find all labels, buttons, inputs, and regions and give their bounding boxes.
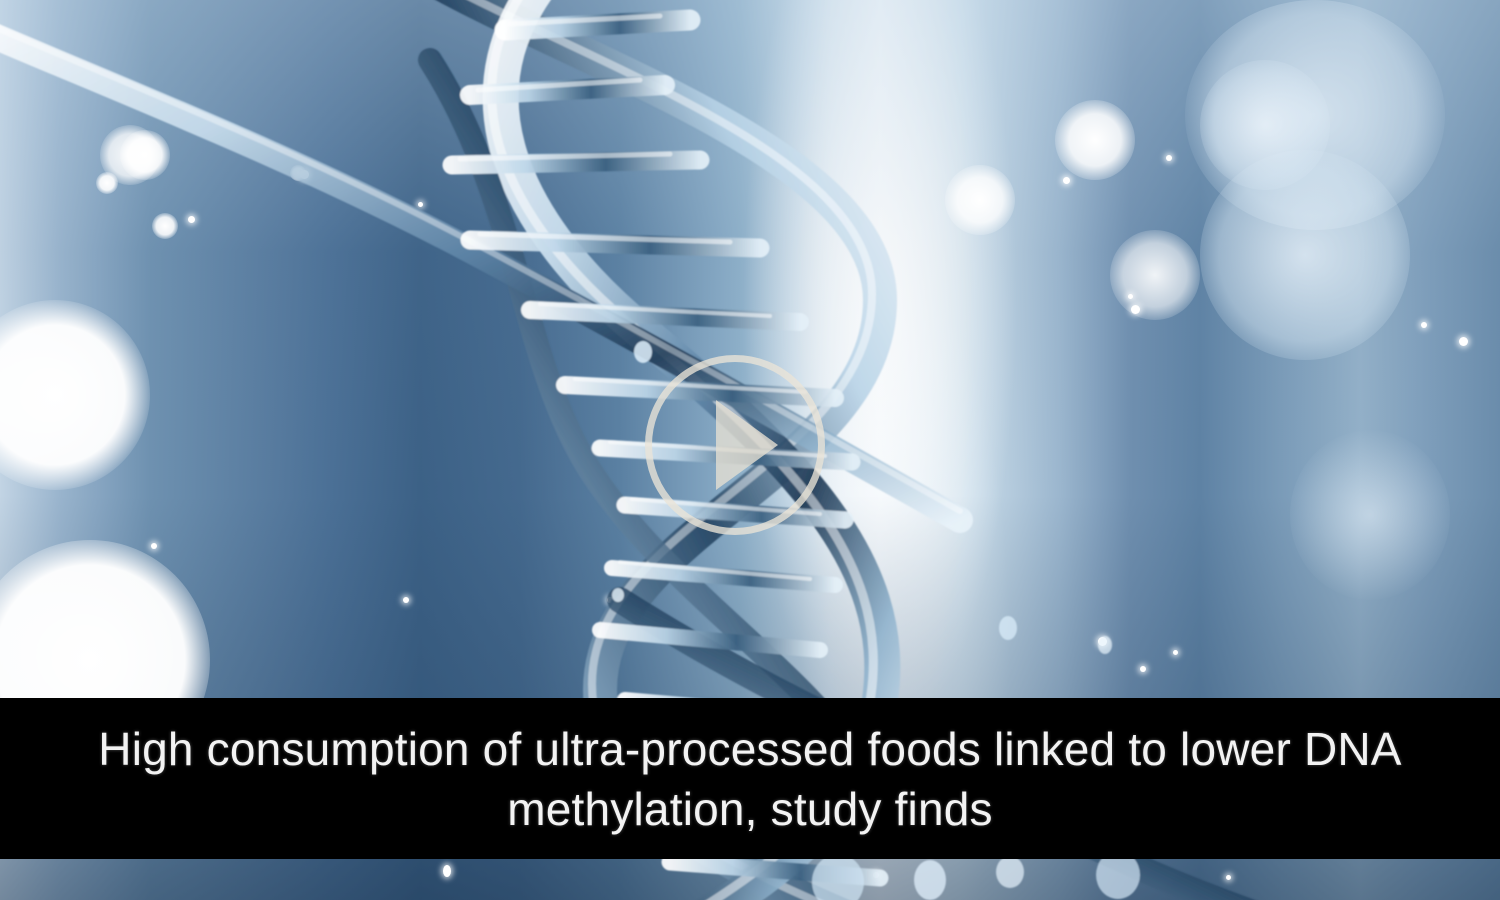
video-player[interactable]: High consumption of ultra-processed food…	[0, 0, 1500, 900]
caption-headline: High consumption of ultra-processed food…	[40, 719, 1460, 839]
play-button[interactable]	[645, 355, 825, 535]
caption-bar: High consumption of ultra-processed food…	[0, 698, 1500, 859]
play-triangle-icon	[716, 400, 778, 490]
